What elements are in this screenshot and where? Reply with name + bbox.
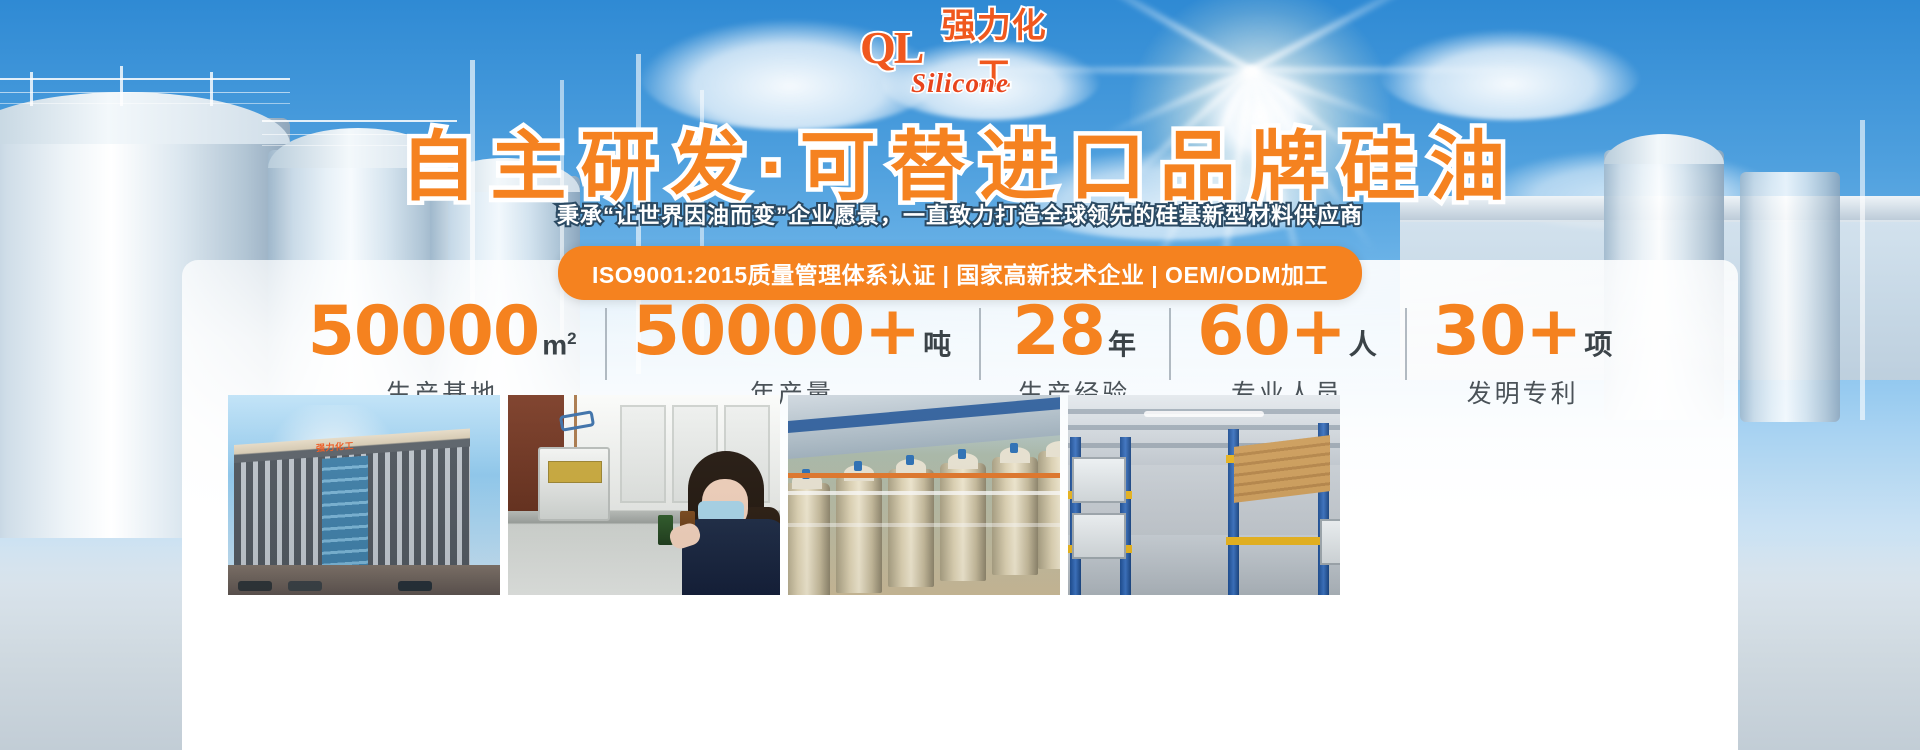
ibc-tote [1072, 513, 1126, 559]
stat-unit-text: 吨 [923, 329, 951, 360]
production-silo [940, 463, 986, 581]
parked-car [238, 581, 272, 591]
railing-post [30, 72, 33, 106]
stat-value-line: 30+ 项 [1433, 298, 1613, 366]
stat-unit: 人 [1349, 323, 1377, 363]
production-silo [1038, 451, 1060, 569]
silo-valve [958, 449, 966, 459]
stat-number: 30+ [1433, 298, 1582, 366]
stat-item: 30+ 项 发明专利 [1405, 298, 1641, 410]
cabinet-door [620, 405, 666, 503]
photo-warehouse[interactable] [1068, 395, 1340, 595]
stat-item: 50000+ 吨 年产量 [605, 298, 980, 410]
ceiling-beam [1068, 425, 1340, 430]
railing-post [120, 66, 123, 106]
stat-unit-text: 年 [1108, 329, 1136, 360]
stats-row: 50000 m2 生产基地 50000+ 吨 年产量 28 年 生产经验 60+… [182, 298, 1738, 398]
photo-production-tanks[interactable] [788, 395, 1060, 595]
hero-subtitle: 秉承“让世界因油而变”企业愿景，一直致力打造全球领先的硅基新型材料供应商 [0, 198, 1920, 230]
ibc-tote [1072, 457, 1126, 503]
railing-post [210, 72, 213, 106]
logo-top-row: QL 强力化工 [860, 22, 1060, 72]
instrument-display [548, 461, 602, 483]
hero-banner: QL 强力化工 Silicone 自主研发·可替进口品牌硅油 自主研发·可替进口… [0, 0, 1920, 750]
process-pipe [788, 523, 1060, 527]
silo-valve [1010, 443, 1018, 453]
photo-office-building[interactable]: 强力化工 [228, 395, 500, 595]
stat-number: 60+ [1197, 298, 1346, 366]
stat-value-line: 50000+ 吨 [633, 298, 952, 366]
stat-number: 50000+ [633, 298, 921, 366]
logo-monogram: QL [860, 21, 922, 74]
stat-unit-superscript: 2 [567, 329, 576, 348]
stat-unit: m2 [542, 329, 576, 361]
parked-car [398, 581, 432, 591]
company-logo[interactable]: QL 强力化工 Silicone [860, 22, 1060, 102]
ibc-tote [1320, 519, 1340, 565]
production-silo [788, 483, 830, 595]
stat-label: 发明专利 [1433, 374, 1613, 410]
parked-car [288, 581, 322, 591]
process-pipe [788, 473, 1060, 478]
photo-laboratory[interactable] [508, 395, 780, 595]
tank-railing [0, 78, 290, 104]
silo-cap [1046, 441, 1060, 457]
stat-unit-text: m [542, 329, 567, 360]
building-sign: 强力化工 [316, 439, 354, 455]
photo-gallery: 强力化工 [228, 395, 1340, 595]
stat-unit: 吨 [923, 323, 951, 363]
stat-unit-text: 人 [1349, 329, 1377, 360]
stat-unit: 项 [1584, 323, 1612, 363]
stat-value-line: 28 年 [1007, 298, 1141, 366]
ceiling-light [1144, 411, 1264, 417]
stat-item: 50000 m2 生产基地 [280, 298, 605, 410]
process-pipe [788, 491, 1060, 495]
production-silo [888, 469, 934, 587]
stat-number: 28 [1012, 298, 1105, 366]
stat-value-line: 50000 m2 [308, 298, 577, 366]
lab-instrument [538, 447, 610, 521]
stat-unit-text: 项 [1584, 329, 1612, 360]
stat-item: 60+ 人 专业人员 [1169, 298, 1405, 410]
stat-item: 28 年 生产经验 [979, 298, 1169, 410]
lab-technician [674, 445, 780, 595]
stat-value-line: 60+ 人 [1197, 298, 1377, 366]
stat-number: 50000 [308, 298, 540, 366]
stat-unit: 年 [1108, 323, 1136, 363]
silo-valve [906, 455, 914, 465]
wooden-pallet-stack [1234, 435, 1330, 503]
silo-valve [854, 461, 862, 471]
